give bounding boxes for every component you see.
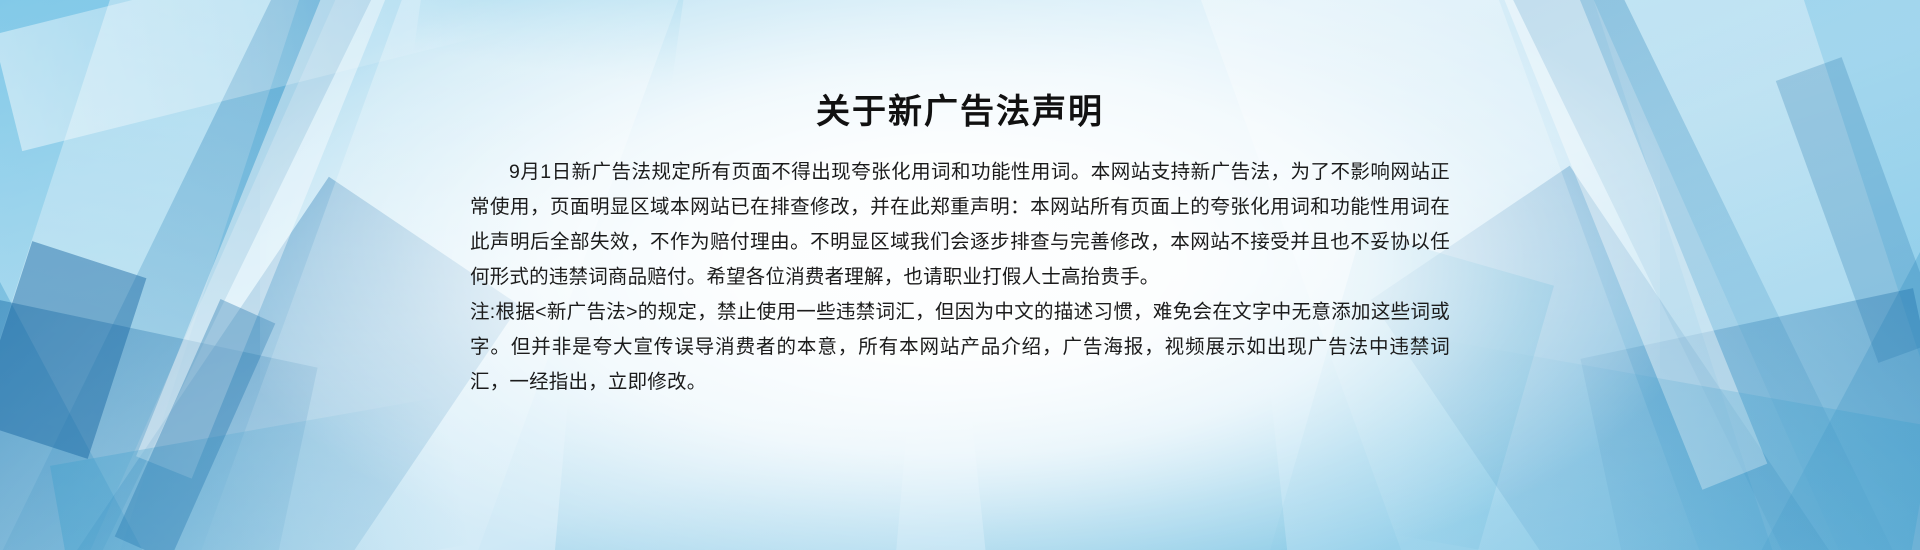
- statement-body: 9月1日新广告法规定所有页面不得出现夸张化用词和功能性用词。本网站支持新广告法，…: [470, 155, 1450, 400]
- paragraph-note: 注:根据<新广告法>的规定，禁止使用一些违禁词汇，但因为中文的描述习惯，难免会在…: [470, 295, 1450, 400]
- background-shape-right-4: [1504, 0, 1920, 550]
- background-accent-3: [1776, 57, 1920, 363]
- paragraph-statement: 9月1日新广告法规定所有页面不得出现夸张化用词和功能性用词。本网站支持新广告法，…: [470, 155, 1450, 295]
- background-accent-1: [0, 241, 146, 459]
- background-shape-right-6: [1580, 288, 1920, 550]
- background-shape-right-3: [1660, 105, 1920, 550]
- background-shape-right-7: [1463, 0, 1768, 490]
- page-title: 关于新广告法声明: [470, 0, 1450, 133]
- background-shape-left-1: [0, 0, 369, 550]
- background-shape-left-7: [136, 0, 424, 479]
- background-shape-right-9: [1387, 336, 1920, 550]
- background-shape-left-9: [0, 0, 527, 151]
- background-shape-left-10: [50, 396, 470, 550]
- advertising-law-banner: 关于新广告法声明 9月1日新广告法规定所有页面不得出现夸张化用词和功能性用词。本…: [0, 0, 1920, 550]
- background-accent-2: [115, 299, 276, 550]
- background-shape-right-1: [1545, 0, 1920, 550]
- statement-content: 关于新广告法声明 9月1日新广告法规定所有页面不得出现夸张化用词和功能性用词。本…: [470, 0, 1450, 550]
- background-shape-right-2: [1527, 0, 1920, 550]
- background-shape-left-2: [0, 0, 360, 550]
- background-shape-left-3: [0, 126, 246, 550]
- background-shape-left-4: [0, 0, 372, 550]
- background-shape-left-6: [0, 299, 318, 550]
- background-shape-left-5: [60, 177, 519, 550]
